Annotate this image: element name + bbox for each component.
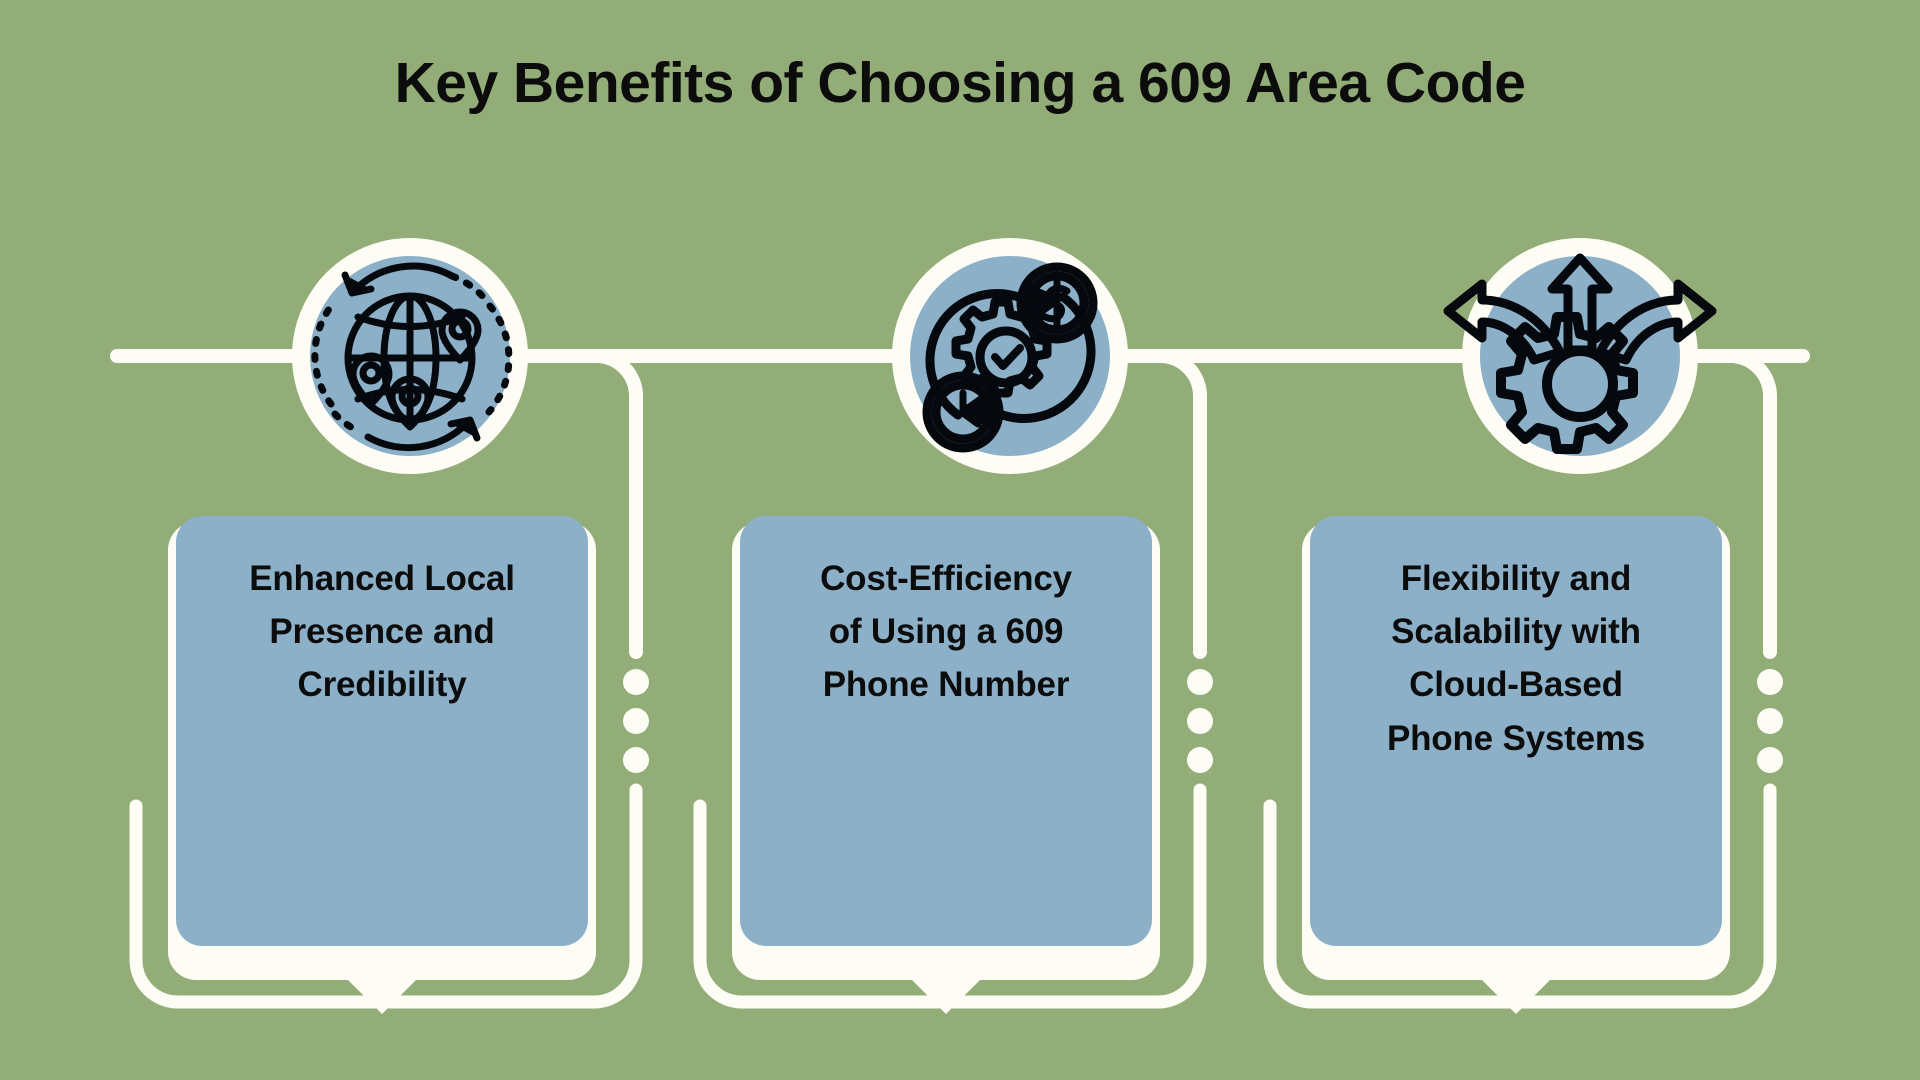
- connector-dot: [623, 747, 649, 773]
- connector-dot: [1187, 669, 1213, 695]
- step-3-line-2: Scalability with: [1310, 605, 1722, 658]
- step-1-line-2: Presence and: [176, 605, 588, 658]
- connector-dot: [1757, 669, 1783, 695]
- connector-dot: [1187, 708, 1213, 734]
- step-1-line-3: Credibility: [176, 658, 588, 711]
- connector-dot: [1187, 747, 1213, 773]
- connector-dot: [623, 669, 649, 695]
- connector-dot: [1757, 708, 1783, 734]
- step-1-line-1: Enhanced Local: [176, 552, 588, 605]
- connector-dot: [623, 708, 649, 734]
- step-2-line-2: of Using a 609: [740, 605, 1152, 658]
- connector-dot: [1757, 747, 1783, 773]
- step-2-line-3: Phone Number: [740, 658, 1152, 711]
- step-2-line-1: Cost-Efficiency: [740, 552, 1152, 605]
- step-3-line-3: Cloud-Based: [1310, 658, 1722, 711]
- infographic-canvas: Key Benefits of Choosing a 609 Area Code: [0, 0, 1920, 1080]
- step-3-card-text: Flexibility and Scalability with Cloud-B…: [1310, 552, 1722, 765]
- step-1-card-text: Enhanced Local Presence and Credibility: [176, 552, 588, 712]
- step-3-line-4: Phone Systems: [1310, 712, 1722, 765]
- infographic-graphics: [0, 0, 1920, 1080]
- step-3-line-1: Flexibility and: [1310, 552, 1722, 605]
- step-2-card-text: Cost-Efficiency of Using a 609 Phone Num…: [740, 552, 1152, 712]
